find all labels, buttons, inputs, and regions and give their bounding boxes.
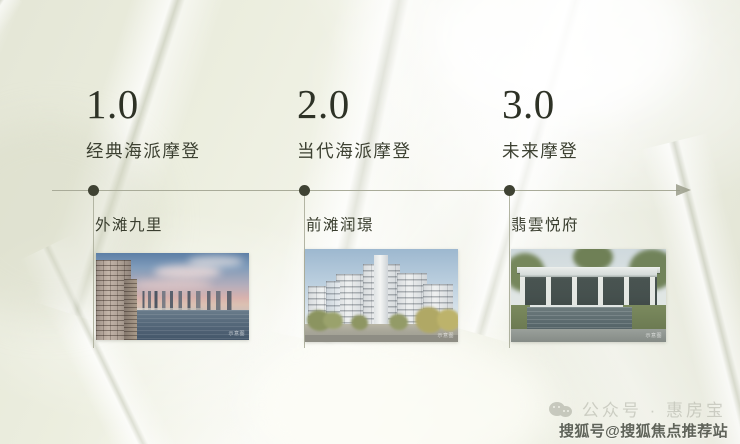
timeline-arrowhead-icon [676,184,691,196]
timeline-node-3 [504,185,515,196]
stage-3-heading: 3.0 未来摩登 [502,84,578,163]
stage-1-project-name: 外滩九里 [95,213,163,235]
stage-2-version: 2.0 [297,84,412,125]
stage-1-heading: 1.0 经典海派摩登 [86,84,201,163]
photo-3-caption: 示意图 [645,332,662,339]
timeline-stem-1 [93,196,94,348]
wechat-icon [549,400,575,418]
photo-3-colonnade [520,277,656,305]
timeline-node-2 [299,185,310,196]
photo-2-center-spire [374,255,388,326]
stage-2-tagline: 当代海派摩登 [297,138,412,163]
photo-1-tower-second [124,279,138,340]
stage-1-photo: 示意图 [96,253,249,340]
timeline-axis [52,190,680,191]
timeline-node-1 [88,185,99,196]
wechat-watermark-text: 公众号 · 惠房宝 [582,396,726,421]
stage-3-tagline: 未来摩登 [502,138,578,163]
stage-2-heading: 2.0 当代海派摩登 [297,84,412,163]
sohu-watermark: 搜狐号@搜狐焦点推荐站 [559,420,728,441]
wechat-watermark: 公众号 · 惠房宝 [549,396,726,421]
photo-2-tree-6 [437,309,458,331]
timeline-stem-3 [509,196,510,348]
presentation-slide: 1.0 经典海派摩登 外滩九里 示意图 2.0 当代海派摩登 前滩润璟 [0,0,740,444]
stage-1-version: 1.0 [86,84,201,125]
stage-1-tagline: 经典海派摩登 [86,138,201,163]
photo-2-tree-2 [323,312,343,329]
photo-2-tree-4 [389,314,407,330]
stage-3-project-name: 翡雲悦府 [511,213,579,235]
photo-2-caption: 示意图 [437,332,454,339]
photo-2-road [305,335,458,342]
photo-2-tree-3 [351,315,368,330]
stage-3-photo: 示意图 [511,249,666,342]
stage-3-version: 3.0 [502,84,578,125]
photo-1-caption: 示意图 [228,330,245,337]
stage-2-project-name: 前滩润璟 [306,213,374,235]
photo-3-foreground-deck [511,329,666,342]
stage-2-photo: 示意图 [305,249,458,342]
photo-1-cloud-b [188,256,243,266]
photo-1-cloud-c [133,279,213,289]
